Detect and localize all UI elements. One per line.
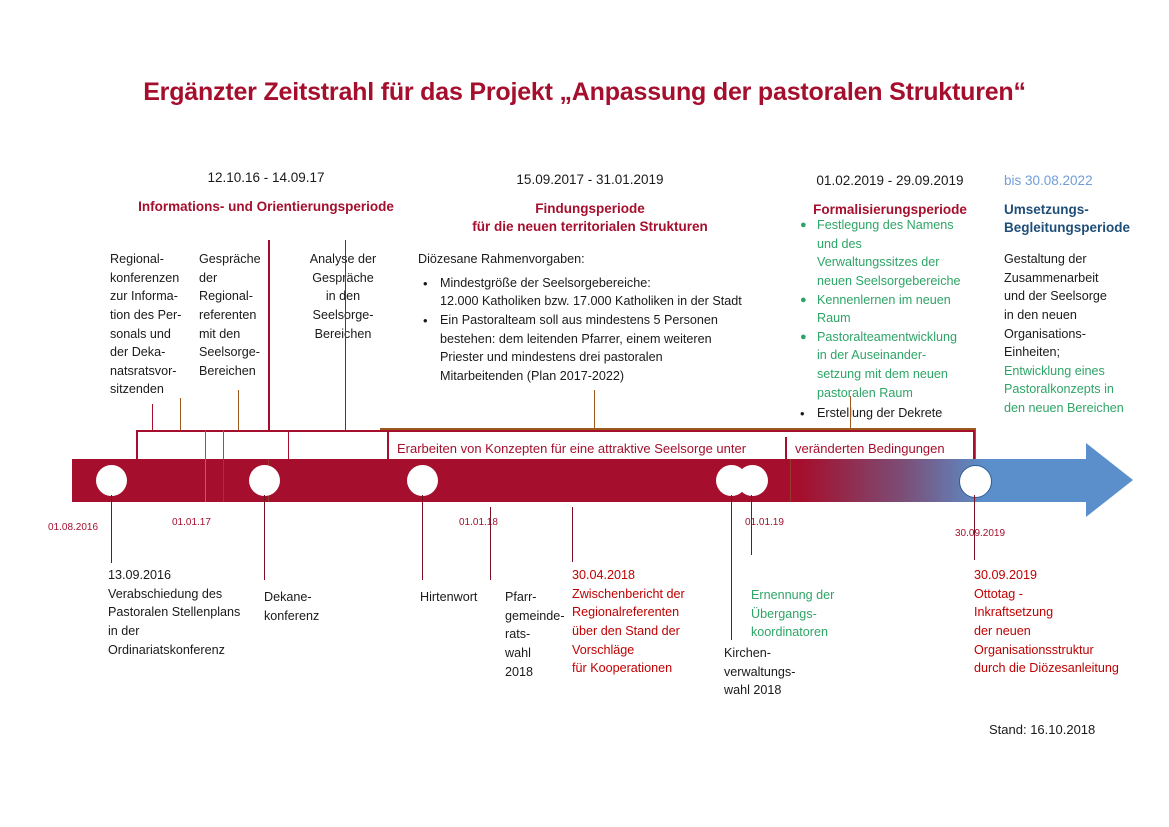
milestone-dekanekonferenz: Dekane- konferenz bbox=[264, 588, 334, 625]
axis-date-label: 01.01.17 bbox=[172, 517, 211, 528]
bullet-icon: ● bbox=[800, 329, 807, 345]
leader-line-gespraeche-a bbox=[180, 398, 181, 430]
list-item: ● Festlegung des Namens und des Verwaltu… bbox=[795, 216, 991, 291]
column-formalisierung-bullets: ● Festlegung des Namens und des Verwaltu… bbox=[795, 216, 991, 423]
list-item: ● Kennenlernen im neuen Raum bbox=[795, 291, 991, 328]
umsetzung-text-black: Gestaltung der Zusammenarbeit und der Se… bbox=[1004, 250, 1154, 362]
column-umsetzung: Gestaltung der Zusammenarbeit und der Se… bbox=[1004, 250, 1154, 418]
lower-leader-pfarrgemeinderatswahl bbox=[490, 507, 491, 580]
bracket-brown-line bbox=[380, 428, 975, 430]
period-date-informations: 12.10.16 - 14.09.17 bbox=[136, 170, 396, 185]
lower-leader-hirtenwort bbox=[422, 495, 423, 580]
timeline-node-uebergangskoordinatoren bbox=[737, 465, 768, 496]
bullet-icon: • bbox=[423, 274, 428, 293]
formalisierung-bullet-2: Kennenlernen im neuen Raum bbox=[817, 291, 991, 328]
timeline-bar bbox=[72, 459, 1086, 502]
lower-leader-uebergangskoordinatoren bbox=[751, 495, 752, 555]
lower-leader-ottotag bbox=[974, 495, 975, 560]
lower-leader-verabschiedung bbox=[111, 495, 112, 563]
milestone-text: Ottotag - Inkraftsetzung der neuen Organ… bbox=[974, 585, 1164, 678]
bullet-icon: • bbox=[423, 311, 428, 330]
umsetzung-text-green: Entwicklung eines Pastoralkonzepts in de… bbox=[1004, 362, 1154, 418]
timeline-node-hirtenwort bbox=[407, 465, 438, 496]
bar-tick bbox=[205, 459, 206, 502]
axis-date-label: 30.09.2019 bbox=[955, 528, 1005, 539]
milestone-uebergangskoordinatoren: Ernennung der Übergangs- koordinatoren bbox=[751, 586, 871, 642]
list-item: ● Pastoralteamentwicklung in der Auseina… bbox=[795, 328, 991, 403]
bar-tick bbox=[790, 459, 791, 502]
timeline-node-2016-08 bbox=[96, 465, 127, 496]
period-name-findungs-line2: für die neuen territorialen Strukturen bbox=[400, 218, 780, 236]
milestone-date: 30.09.2019 bbox=[974, 566, 1164, 585]
list-item: • Ein Pastoralteam soll aus mindestens 5… bbox=[418, 311, 783, 386]
milestone-verabschiedung: 13.09.2016 Verabschiedung des Pastoralen… bbox=[108, 566, 268, 659]
period-header-formalisierungs: 01.02.2019 - 29.09.2019 Formalisierungsp… bbox=[790, 173, 990, 219]
milestone-text: Verabschiedung des Pastoralen Stellenpla… bbox=[108, 585, 268, 660]
leader-line-analyse-left bbox=[268, 240, 270, 430]
milestone-zwischenbericht: 30.04.2018 Zwischenbericht der Regionalr… bbox=[572, 566, 732, 678]
rahmenvorgaben-bullet-2: Ein Pastoralteam soll aus mindestens 5 P… bbox=[440, 311, 783, 386]
column-rahmenvorgaben: Diözesane Rahmenvorgaben: • Mindestgröße… bbox=[418, 250, 783, 385]
milestone-kirchenverwaltungswahl: Kirchen- verwaltungs- wahl 2018 bbox=[724, 644, 816, 700]
period-name-findungs-line1: Findungsperiode bbox=[400, 200, 780, 218]
lower-leader-zwischenbericht bbox=[572, 507, 573, 562]
leader-line-analyse-right bbox=[345, 240, 346, 430]
period-header-findungs: 15.09.2017 - 31.01.2019 Findungsperiode … bbox=[400, 172, 780, 236]
column-analyse: Analyse der Gespräche in den Seelsorge- … bbox=[297, 250, 389, 343]
period-date-umsetzungs: bis 30.08.2022 bbox=[1004, 173, 1154, 188]
list-item: • Mindestgröße der Seelsorgebereiche: 12… bbox=[418, 274, 783, 311]
leader-line-findungs bbox=[594, 390, 595, 430]
bullet-icon: ● bbox=[800, 217, 807, 233]
bracket-left-edge bbox=[136, 430, 138, 460]
formalisierung-bullet-list: ● Festlegung des Namens und des Verwaltu… bbox=[795, 216, 991, 423]
axis-date-label: 01.08.2016 bbox=[48, 522, 98, 533]
milestone-date: 13.09.2016 bbox=[108, 566, 268, 585]
leader-line-formalisierung bbox=[850, 396, 851, 432]
bracket-top-line bbox=[136, 430, 976, 432]
period-name-umsetzungs-line1: Umsetzungs- bbox=[1004, 201, 1154, 219]
footer-stand: Stand: 16.10.2018 bbox=[989, 722, 1095, 737]
timeline-diagram: Ergänzter Zeitstrahl für das Projekt „An… bbox=[0, 0, 1169, 827]
period-header-informations: 12.10.16 - 14.09.17 Informations- und Or… bbox=[136, 170, 396, 216]
column-gespraeche: Gespräche der Regional- referenten mit d… bbox=[199, 250, 273, 380]
list-item: • Erstellung der Dekrete bbox=[795, 404, 991, 423]
period-header-umsetzungs: bis 30.08.2022 Umsetzungs- Begleitungspe… bbox=[1004, 173, 1154, 237]
timeline-node-2019-09-30 bbox=[959, 465, 992, 498]
formalisierung-bullet-3: Pastoralteamentwicklung in der Auseinand… bbox=[817, 328, 991, 403]
leader-line-gespraeche-b bbox=[238, 390, 239, 430]
bar-tick bbox=[223, 459, 224, 502]
leader-line-regionalkonferenzen bbox=[152, 404, 153, 430]
period-date-findungs: 15.09.2017 - 31.01.2019 bbox=[400, 172, 780, 187]
milestone-hirtenwort: Hirtenwort bbox=[420, 588, 500, 607]
banner-text-left: Erarbeiten von Konzepten für eine attrak… bbox=[397, 441, 746, 456]
bullet-icon: ● bbox=[800, 292, 807, 308]
milestone-text: Zwischenbericht der Regionalreferenten ü… bbox=[572, 585, 732, 678]
rahmenvorgaben-heading: Diözesane Rahmenvorgaben: bbox=[418, 250, 783, 269]
period-name-umsetzungs-line2: Begleitungsperiode bbox=[1004, 219, 1154, 237]
milestone-ottotag: 30.09.2019 Ottotag - Inkraftsetzung der … bbox=[974, 566, 1164, 678]
bracket-tick-b bbox=[223, 430, 224, 460]
timeline-arrow-head bbox=[1086, 443, 1133, 517]
milestone-date: 30.04.2018 bbox=[572, 566, 732, 585]
formalisierung-bullet-4: Erstellung der Dekrete bbox=[817, 404, 991, 423]
bullet-icon: • bbox=[800, 404, 805, 423]
formalisierung-bullet-1: Festlegung des Namens und des Verwaltung… bbox=[817, 216, 991, 291]
column-regionalkonferenzen: Regional- konferenzen zur Informa- tion … bbox=[110, 250, 188, 399]
bracket-tick-c bbox=[288, 430, 289, 460]
period-date-formalisierungs: 01.02.2019 - 29.09.2019 bbox=[790, 173, 990, 188]
page-title: Ergänzter Zeitstrahl für das Projekt „An… bbox=[0, 78, 1169, 107]
axis-date-label: 01.01.18 bbox=[459, 517, 498, 528]
milestone-pfarrgemeinderatswahl: Pfarr- gemeinde- rats- wahl 2018 bbox=[505, 588, 567, 681]
period-name-informations: Informations- und Orientierungsperiode bbox=[136, 198, 396, 216]
timeline-node-dekanekonferenz bbox=[249, 465, 280, 496]
rahmenvorgaben-bullet-1: Mindestgröße der Seelsorgebereiche: 12.0… bbox=[440, 274, 783, 311]
banner-text-right: veränderten Bedingungen bbox=[795, 441, 945, 456]
bracket-tick-a bbox=[205, 430, 206, 460]
rahmenvorgaben-bullet-list: • Mindestgröße der Seelsorgebereiche: 12… bbox=[418, 274, 783, 386]
